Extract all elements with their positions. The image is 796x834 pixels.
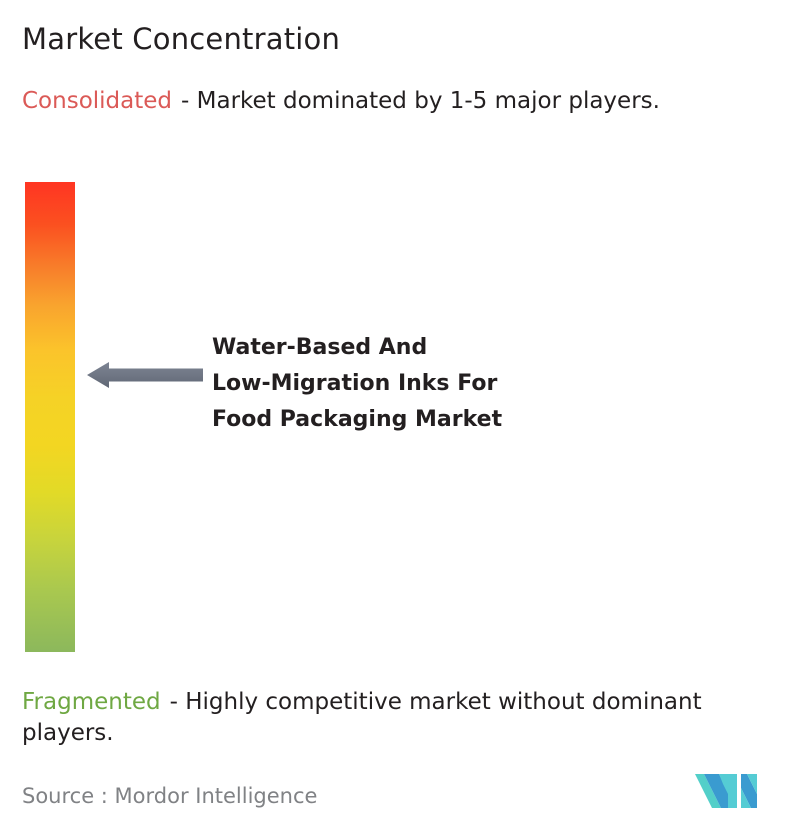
description-consolidated: - Market dominated by 1-5 major players. <box>181 88 660 114</box>
label-fragmented: Fragmented <box>22 689 161 715</box>
market-name-line-2: Low-Migration Inks For <box>212 366 632 402</box>
market-name-label: Water-Based And Low-Migration Inks For F… <box>212 330 632 438</box>
source-text: Source : Mordor Intelligence <box>22 782 317 810</box>
market-name-line-3: Food Packaging Market <box>212 402 632 438</box>
concentration-gradient-bar <box>25 182 75 652</box>
caption-fragmented: Fragmented- Highly competitive market wi… <box>22 687 792 749</box>
caption-consolidated: Consolidated- Market dominated by 1-5 ma… <box>22 86 774 117</box>
label-consolidated: Consolidated <box>22 88 172 114</box>
page-title: Market Concentration <box>22 21 340 57</box>
mordor-intelligence-logo-icon <box>695 768 757 810</box>
market-concentration-infographic: Market Concentration Consolidated- Marke… <box>0 0 796 834</box>
left-arrow-icon <box>87 361 203 389</box>
market-name-line-1: Water-Based And <box>212 330 632 366</box>
